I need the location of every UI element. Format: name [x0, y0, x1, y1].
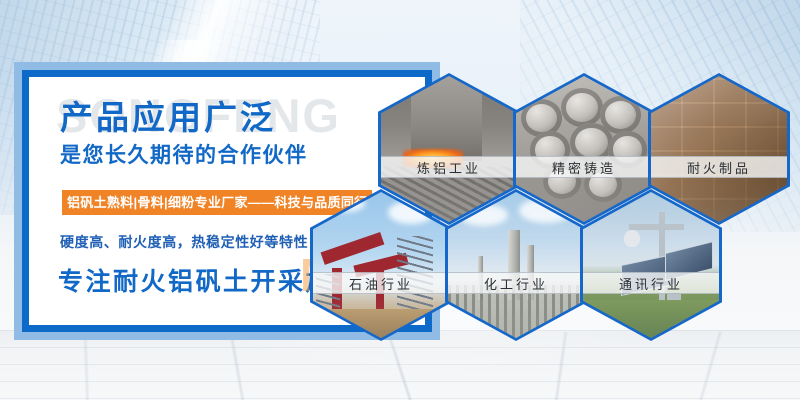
hex-label-band: 炼铝工业 — [381, 156, 517, 178]
promo-banner: SONGFENG 产品应用广泛 是您长久期待的合作伙伴 铝矾土熟料|骨料|细粉专… — [0, 0, 800, 400]
hex-photo-clip: 化工行业 — [448, 192, 584, 338]
hex-label-band: 化工行业 — [448, 272, 584, 294]
hex-label-band: 耐火制品 — [651, 156, 787, 178]
hex-label-band: 石油行业 — [313, 272, 449, 294]
industry-hexagon-grid: 炼铝工业 精密铸造 — [0, 0, 800, 400]
hex-card-chemical-industry[interactable]: 化工行业 — [445, 189, 587, 341]
hex-label-band: 通讯行业 — [583, 272, 719, 294]
hex-card-petroleum-industry[interactable]: 石油行业 — [310, 189, 452, 341]
hex-label: 通讯行业 — [619, 274, 683, 293]
hex-photo-clip: 通讯行业 — [583, 192, 719, 338]
hex-label: 精密铸造 — [552, 158, 616, 177]
hex-label: 石油行业 — [349, 274, 413, 293]
hex-label: 炼铝工业 — [417, 158, 481, 177]
hex-photo-clip: 石油行业 — [313, 192, 449, 338]
hex-label: 化工行业 — [484, 274, 548, 293]
hex-card-communications-industry[interactable]: 通讯行业 — [580, 189, 722, 341]
hex-label-band: 精密铸造 — [516, 156, 652, 178]
hex-label: 耐火制品 — [687, 158, 751, 177]
